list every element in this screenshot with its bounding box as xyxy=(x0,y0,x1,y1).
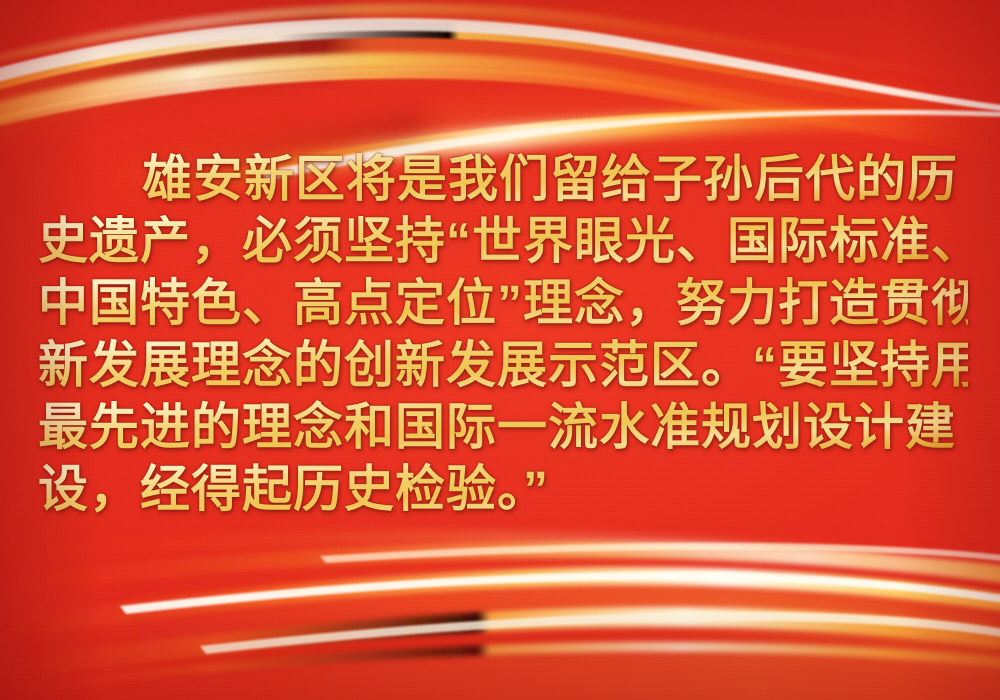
poster-canvas: 雄安新区将是我们留给子孙后代的历 史遗产，必须坚持“世界眼光、国际标准、 中国特… xyxy=(0,0,1000,700)
background-vignette xyxy=(0,0,1000,700)
